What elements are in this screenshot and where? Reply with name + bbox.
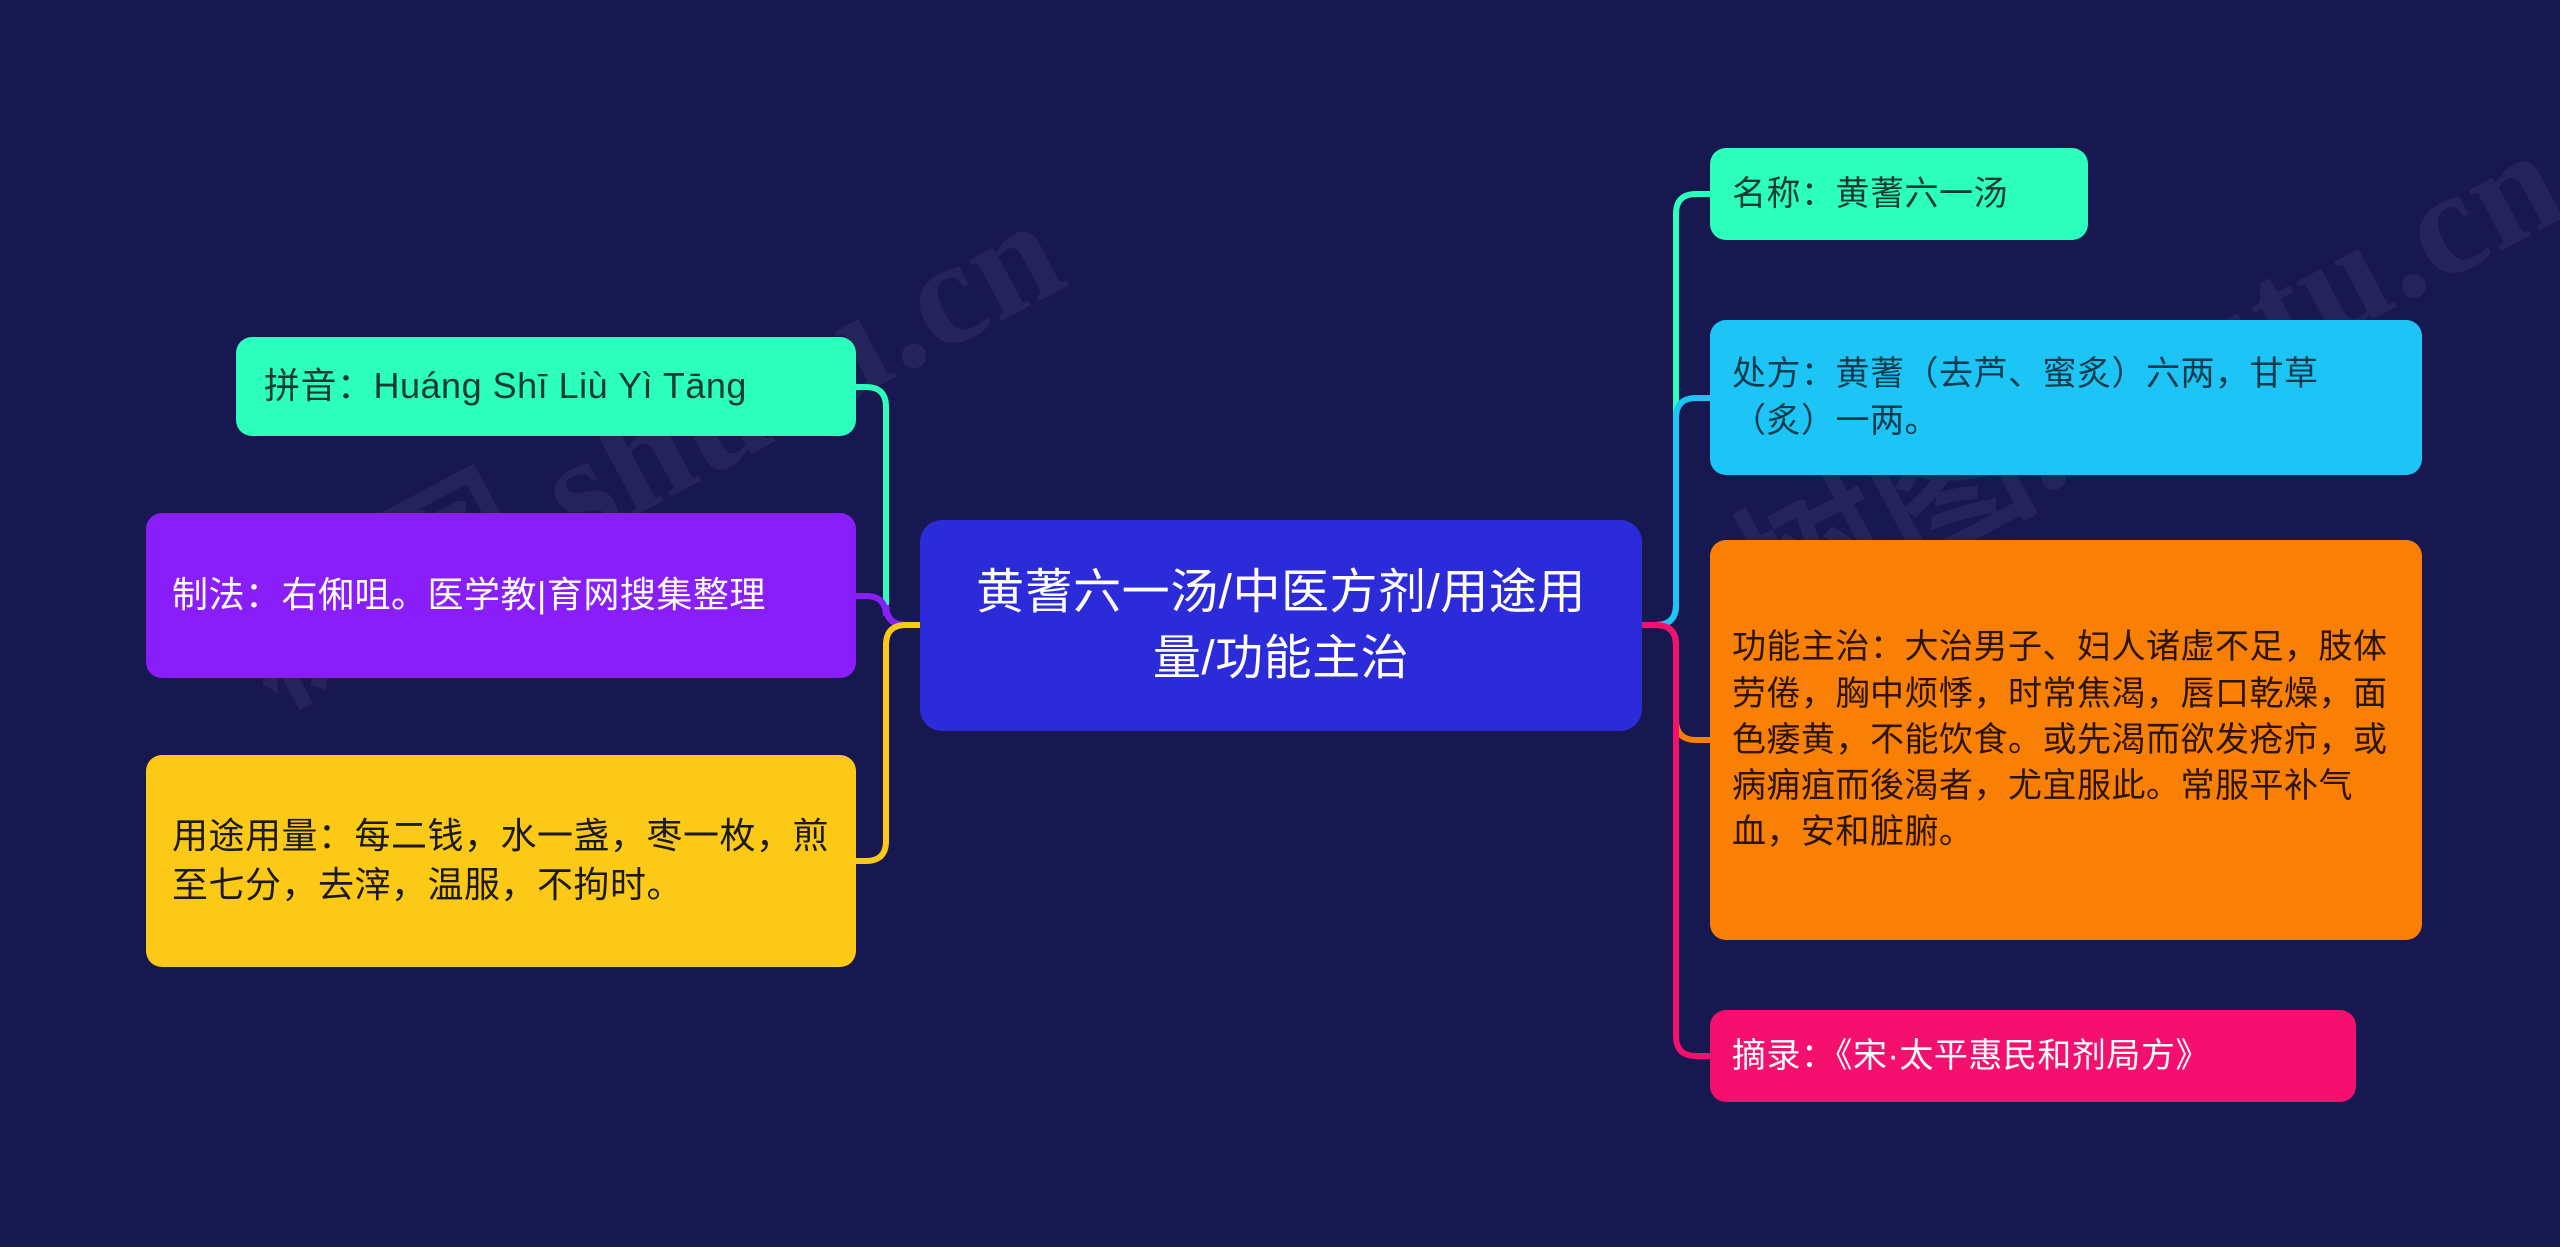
node-pinyin[interactable]: 拼音：Huáng Shī Liù Yì Tāng [236,337,856,436]
node-pinyin-label: 拼音：Huáng Shī Liù Yì Tāng [264,362,828,411]
mindmap-canvas: 树图.shutu.cn 树图.shutu.cn 拼音：Huáng Shī Liù… [0,0,2560,1247]
node-zhifa[interactable]: 制法：右俰咀。医学教|育网搜集整理 [146,513,856,678]
node-chufang-label: 处方：黄蓍（去芦、蜜炙）六两，甘草（炙）一两。 [1732,351,2400,443]
node-gongneng[interactable]: 功能主治：大治男子、妇人诸虚不足，肢体劳倦，胸中烦悸，时常焦渴，唇口乾燥，面色痿… [1710,540,2422,940]
node-zhifa-label: 制法：右俰咀。医学教|育网搜集整理 [172,571,830,620]
connector-yongtu [856,625,920,861]
node-chufang[interactable]: 处方：黄蓍（去芦、蜜炙）六两，甘草（炙）一两。 [1710,320,2422,475]
connector-mingcheng [1642,194,1710,625]
connector-chufang [1642,398,1710,625]
node-yongtu-label: 用途用量：每二钱，水一盏，枣一枚，煎至七分，去滓，温服，不拘时。 [172,812,830,910]
connector-zhifa [856,596,920,625]
node-mingcheng-label: 名称：黄蓍六一汤 [1732,171,2066,217]
node-gongneng-label: 功能主治：大治男子、妇人诸虚不足，肢体劳倦，胸中烦悸，时常焦渴，唇口乾燥，面色痿… [1732,624,2400,855]
node-yongtu[interactable]: 用途用量：每二钱，水一盏，枣一枚，煎至七分，去滓，温服，不拘时。 [146,755,856,967]
connector-zhailu [1642,625,1710,1056]
connector-gongneng [1642,625,1710,740]
node-zhailu[interactable]: 摘录：《宋·太平惠民和剂局方》 [1710,1010,2356,1102]
node-root-label: 黄蓍六一汤/中医方剂/用途用量/功能主治 [956,560,1606,691]
node-mingcheng[interactable]: 名称：黄蓍六一汤 [1710,148,2088,240]
node-root[interactable]: 黄蓍六一汤/中医方剂/用途用量/功能主治 [920,520,1642,731]
node-zhailu-label: 摘录：《宋·太平惠民和剂局方》 [1732,1033,2334,1079]
